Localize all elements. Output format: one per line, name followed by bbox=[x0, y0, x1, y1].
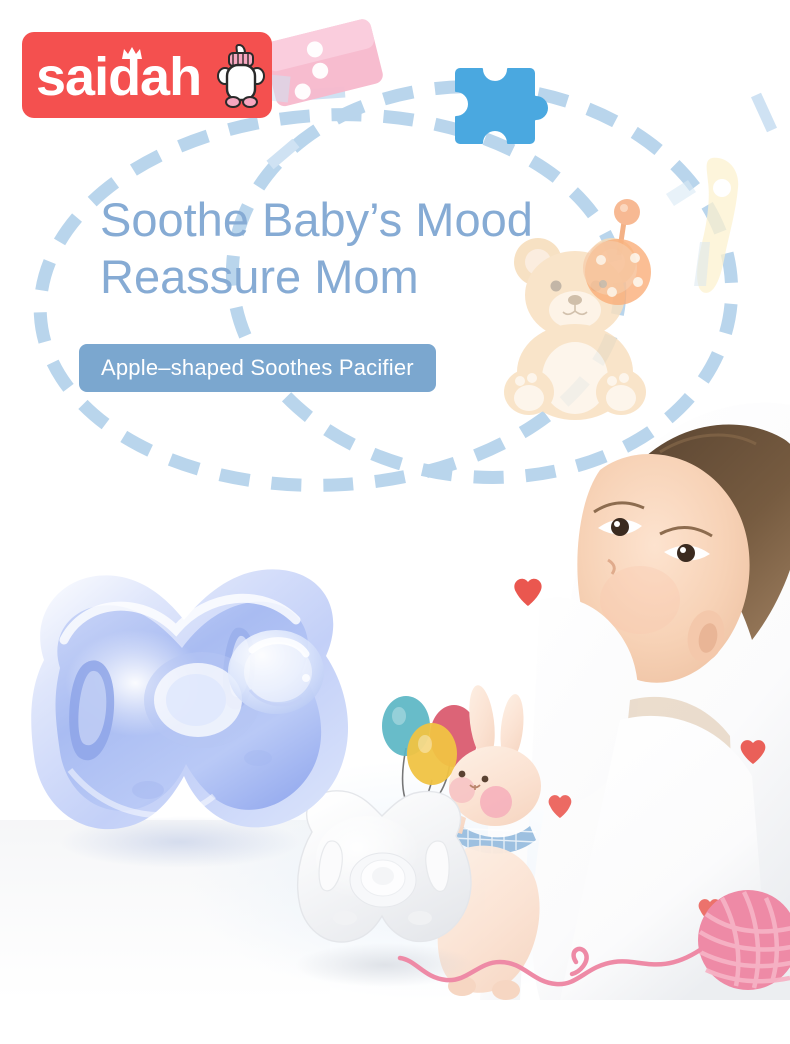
headline-line-1: Soothe Baby’s Mood bbox=[100, 193, 533, 246]
banner-canvas: saidah Soothe Baby’s Mood Reassure Mom A… bbox=[0, 0, 790, 1044]
blue-silicone-pacifier bbox=[31, 569, 348, 868]
headline: Soothe Baby’s Mood Reassure Mom bbox=[100, 196, 533, 300]
white-silicone-pacifier bbox=[295, 791, 475, 987]
pink-domino-block bbox=[253, 17, 385, 110]
vent-slot-left bbox=[69, 660, 114, 760]
blue-puzzle-piece bbox=[455, 68, 548, 144]
baby-bottle-mascot-icon bbox=[214, 44, 268, 110]
bunny-scarf bbox=[446, 818, 536, 854]
headline-line-2: Reassure Mom bbox=[100, 253, 533, 300]
yarn-ball bbox=[400, 890, 790, 990]
pale-key-rattle bbox=[666, 158, 738, 293]
decor-layer bbox=[0, 0, 790, 1044]
subtitle-text: Apple–shaped Soothes Pacifier bbox=[101, 355, 414, 381]
vent-slot-right bbox=[426, 841, 449, 891]
crown-icon bbox=[121, 46, 143, 60]
blanket-heart-motifs bbox=[514, 579, 765, 922]
subtitle-banner[interactable]: Apple–shaped Soothes Pacifier bbox=[79, 344, 436, 392]
balloon-teal bbox=[382, 696, 430, 756]
vent-slot-left bbox=[319, 841, 342, 891]
brand-name: saidah bbox=[36, 50, 201, 104]
pacifier-teat bbox=[228, 630, 324, 714]
yarn-thread bbox=[400, 950, 700, 984]
balloon-yellow bbox=[407, 723, 457, 785]
bunny-with-balloons bbox=[382, 684, 541, 1000]
rattle-ball-illustration bbox=[583, 199, 651, 305]
baby-photo bbox=[480, 403, 790, 1000]
stray-dash-marks bbox=[270, 92, 772, 165]
vent-slot-right bbox=[223, 628, 255, 710]
balloon-red bbox=[430, 705, 478, 767]
